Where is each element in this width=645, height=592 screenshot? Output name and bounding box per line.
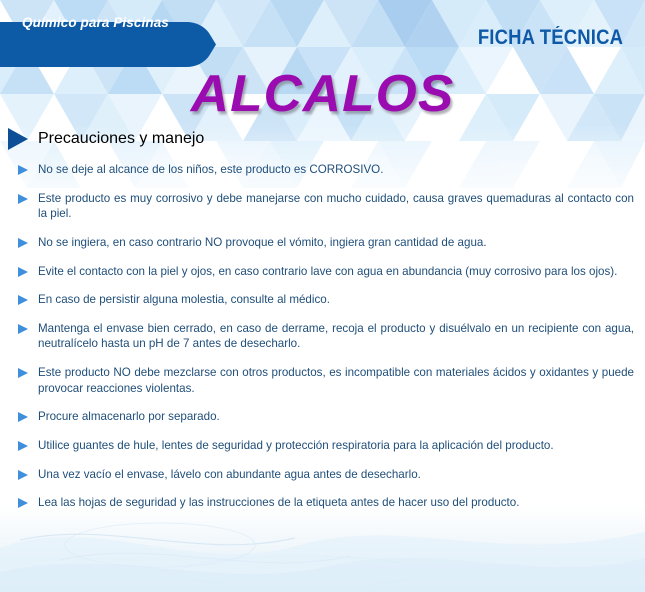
list-item-text: Una vez vacío el envase, lávelo con abun… (38, 467, 634, 483)
document-type-label: FICHA TÉCNICA (478, 26, 623, 50)
list-item-text: Evite el contacto con la piel y ojos, en… (38, 264, 634, 280)
product-title: ALCALOS (0, 64, 645, 124)
triangle-right-icon (18, 238, 28, 248)
triangle-right-icon (18, 194, 28, 204)
list-item-text: No se ingiera, en caso contrario NO prov… (38, 235, 634, 251)
triangle-right-icon (18, 295, 28, 305)
list-item: Lea las hojas de seguridad y las instruc… (18, 495, 634, 511)
list-item-text: No se deje al alcance de los niños, este… (38, 162, 634, 178)
list-item-text: Lea las hojas de seguridad y las instruc… (38, 495, 634, 511)
triangle-right-icon (18, 498, 28, 508)
list-item-text: Utilice guantes de hule, lentes de segur… (38, 438, 634, 454)
list-item-text: Procure almacenarlo por separado. (38, 409, 634, 425)
list-item: Una vez vacío el envase, lávelo con abun… (18, 467, 634, 483)
precautions-list: No se deje al alcance de los niños, este… (18, 162, 634, 524)
list-item: Este producto es muy corrosivo y debe ma… (18, 191, 634, 222)
list-item: Evite el contacto con la piel y ojos, en… (18, 264, 634, 280)
triangle-right-icon (18, 165, 28, 175)
datasheet-page: Químico para Piscinas FICHA TÉCNICA ALCA… (0, 0, 645, 592)
list-item-text: Este producto es muy corrosivo y debe ma… (38, 191, 634, 222)
section-heading-label: Precauciones y manejo (38, 130, 204, 148)
list-item: No se deje al alcance de los niños, este… (18, 162, 634, 178)
triangle-right-icon (18, 412, 28, 422)
list-item: Utilice guantes de hule, lentes de segur… (18, 438, 634, 454)
triangle-right-icon (18, 324, 28, 334)
list-item-text: Mantenga el envase bien cerrado, en caso… (38, 321, 634, 352)
list-item: En caso de persistir alguna molestia, co… (18, 292, 634, 308)
section-heading: Precauciones y manejo (8, 128, 204, 150)
triangle-right-icon (18, 368, 28, 378)
triangle-right-icon (8, 128, 28, 150)
list-item: Procure almacenarlo por separado. (18, 409, 634, 425)
list-item: Este producto NO debe mezclarse con otro… (18, 365, 634, 396)
list-item-text: Este producto NO debe mezclarse con otro… (38, 365, 634, 396)
triangle-right-icon (18, 470, 28, 480)
list-item: Mantenga el envase bien cerrado, en caso… (18, 321, 634, 352)
category-banner-label: Químico para Piscinas (22, 0, 169, 45)
triangle-right-icon (18, 441, 28, 451)
list-item: No se ingiera, en caso contrario NO prov… (18, 235, 634, 251)
list-item-text: En caso de persistir alguna molestia, co… (38, 292, 634, 308)
triangle-right-icon (18, 267, 28, 277)
